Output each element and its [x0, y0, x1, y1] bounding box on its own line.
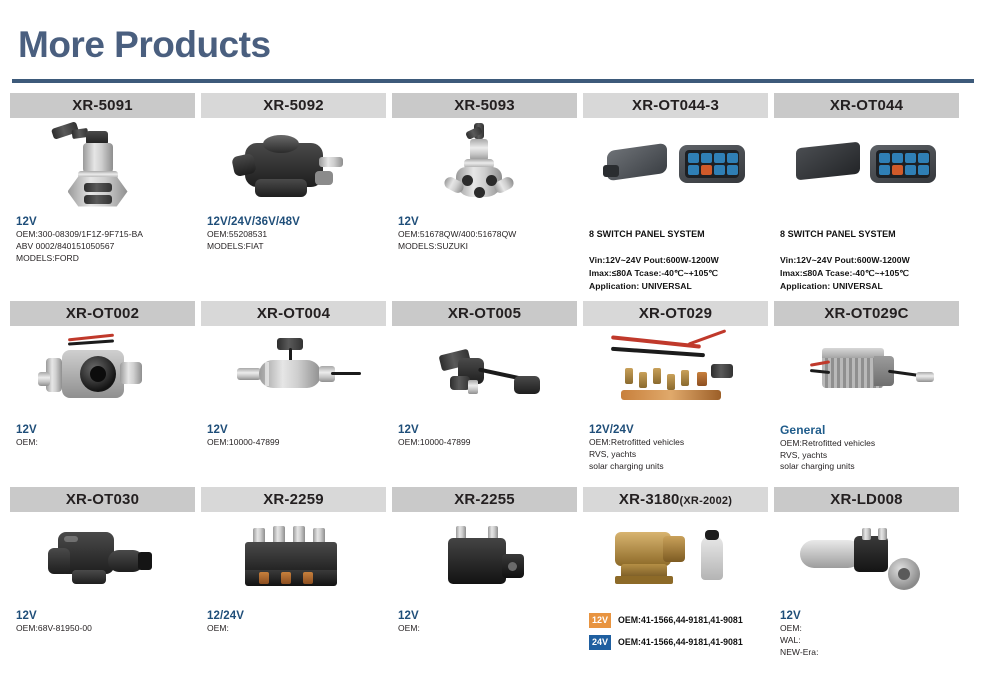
product-code: XR-3180(XR-2002): [583, 487, 768, 512]
voltage-label: 12V: [207, 423, 382, 437]
product-card-xr-ot004[interactable]: XR-OT004 12V OEM:10000-47899: [201, 301, 386, 483]
voltage-label: 12V: [16, 423, 191, 437]
product-image-wiring-kit: [583, 326, 768, 421]
product-info: 12V OEM:10000-47899: [392, 421, 577, 483]
voltage-badge-row: 12V OEM:41-1566,44-9181,41-9081: [589, 613, 764, 628]
oem-text: OEM: WAL: NEW-Era:: [780, 623, 955, 658]
spec-text: Vin:12V~24V Pout:600W-1200W Imax:≤80A Tc…: [589, 255, 719, 291]
product-row: XR-OT030 12V OEM:68V-81950-00: [10, 487, 980, 673]
product-image-valve-metal: [10, 118, 195, 213]
voltage-badge-12v: 12V: [589, 613, 611, 628]
product-info: 8 SWITCH PANEL SYSTEM Vin:12V~24V Pout:6…: [774, 213, 959, 297]
voltage-label: 12V/24V/36V/48V: [207, 215, 382, 229]
oem-text: OEM:10000-47899: [398, 437, 573, 449]
product-card-xr-ot005[interactable]: XR-OT005 12V OEM:10000-47899: [392, 301, 577, 483]
spec-text: Vin:12V~24V Pout:600W-1200W Imax:≤80A Tc…: [780, 255, 910, 291]
voltage-label: 12V: [398, 609, 573, 623]
product-code: XR-OT005: [392, 301, 577, 326]
voltage-label: 12V: [398, 215, 573, 229]
voltage-label: 12V: [16, 609, 191, 623]
product-catalog-page: More Products XR-5091: [0, 0, 990, 694]
product-image-switch-panel: [774, 118, 959, 213]
product-code: XR-OT044: [774, 93, 959, 118]
oem-text: OEM:Retrofitted vehicles RVS, yachts sol…: [589, 437, 764, 472]
voltage-badge-24v: 24V: [589, 635, 611, 650]
oem-text: OEM:41-1566,44-9181,41-9081: [618, 637, 743, 647]
product-card-xr-3180[interactable]: XR-3180(XR-2002) 12V OEM:41-1566,44-91: [583, 487, 768, 673]
product-code-sub: (XR-2002): [680, 495, 733, 507]
oem-text: OEM:: [398, 623, 573, 635]
product-grid: XR-5091 12V OEM:300-08309/1: [0, 93, 990, 673]
oem-text: OEM:51678QW/400:51678QW MODELS:SUZUKI: [398, 229, 573, 252]
page-title: More Products: [18, 26, 990, 63]
product-image-pump-black: [201, 118, 386, 213]
oem-text: OEM:: [16, 437, 191, 449]
product-code: XR-2255: [392, 487, 577, 512]
oem-text: OEM:: [207, 623, 382, 635]
oem-text: OEM:41-1566,44-9181,41-9081: [618, 615, 743, 625]
oem-text: OEM:Retrofitted vehicles RVS, yachts sol…: [780, 438, 955, 473]
oem-text: OEM:10000-47899: [207, 437, 382, 449]
product-image-winch-contactor: [201, 512, 386, 607]
product-image-sensor-cable: [392, 326, 577, 421]
oem-text: OEM:300-08309/1F1Z-9F715-BA ABV 0002/840…: [16, 229, 191, 264]
product-image-solenoid-black: [392, 512, 577, 607]
voltage-label: General: [780, 423, 955, 438]
voltage-badge-row: 24V OEM:41-1566,44-9181,41-9081: [589, 635, 764, 650]
product-image-starter-solenoid: [774, 512, 959, 607]
product-code: XR-2259: [201, 487, 386, 512]
product-code: XR-LD008: [774, 487, 959, 512]
product-code: XR-OT029C: [774, 301, 959, 326]
product-code: XR-OT002: [10, 301, 195, 326]
product-code: XR-5092: [201, 93, 386, 118]
product-card-xr-5092[interactable]: XR-5092 12V/24V/36V/48V OEM:55208531 MOD…: [201, 93, 386, 297]
product-info: 12V OEM:: [10, 421, 195, 483]
spec-title: 8 SWITCH PANEL SYSTEM: [780, 228, 955, 242]
product-card-xr-2255[interactable]: XR-2255 12V OEM:: [392, 487, 577, 673]
voltage-label: 12V: [16, 215, 191, 229]
product-code: XR-OT029: [583, 301, 768, 326]
product-info: 12V OEM:68V-81950-00: [10, 607, 195, 669]
product-code: XR-OT004: [201, 301, 386, 326]
product-info: 12V OEM:10000-47899: [201, 421, 386, 483]
product-card-xr-2259[interactable]: XR-2259 12/24V: [201, 487, 386, 673]
product-image-starter-brass: [583, 512, 768, 607]
product-card-xr-5091[interactable]: XR-5091 12V OEM:300-08309/1: [10, 93, 195, 297]
product-row: XR-5091 12V OEM:300-08309/1: [10, 93, 980, 297]
product-card-xr-ot002[interactable]: XR-OT002 12V OEM:: [10, 301, 195, 483]
product-card-xr-ot029[interactable]: XR-OT029: [583, 301, 768, 483]
spec-title: 8 SWITCH PANEL SYSTEM: [589, 228, 764, 242]
product-info: 12/24V OEM:: [201, 607, 386, 669]
product-info: 12V OEM:300-08309/1F1Z-9F715-BA ABV 0002…: [10, 213, 195, 275]
oem-text: OEM:55208531 MODELS:FIAT: [207, 229, 382, 252]
product-card-xr-ot044-3[interactable]: XR-OT044-3: [583, 93, 768, 297]
product-info: 12V/24V/36V/48V OEM:55208531 MODELS:FIAT: [201, 213, 386, 275]
product-info: 12V OEM:41-1566,44-9181,41-9081 24V OEM:…: [583, 607, 768, 673]
product-card-xr-ot030[interactable]: XR-OT030 12V OEM:68V-81950-00: [10, 487, 195, 673]
page-header: More Products: [0, 0, 990, 63]
voltage-label: 12/24V: [207, 609, 382, 623]
product-image-switch-panel: [583, 118, 768, 213]
product-code-main: XR-3180: [619, 491, 680, 508]
product-code: XR-5093: [392, 93, 577, 118]
voltage-label: 12V/24V: [589, 423, 764, 437]
product-info: 12V OEM: WAL: NEW-Era:: [774, 607, 959, 669]
voltage-label: 12V: [398, 423, 573, 437]
product-image-amp-box: [774, 326, 959, 421]
product-info: 8 SWITCH PANEL SYSTEM Vin:12V~24V Pout:6…: [583, 213, 768, 297]
product-image-valve-spider: [392, 118, 577, 213]
product-info: 12V OEM:51678QW/400:51678QW MODELS:SUZUK…: [392, 213, 577, 275]
product-image-coil-round: [10, 326, 195, 421]
voltage-label: 12V: [780, 609, 955, 623]
title-divider: [12, 79, 974, 83]
product-info: 12V OEM:: [392, 607, 577, 669]
product-card-xr-ot044[interactable]: XR-OT044: [774, 93, 959, 297]
product-image-ignition-coil: [10, 512, 195, 607]
product-code: XR-OT030: [10, 487, 195, 512]
product-info: General OEM:Retrofitted vehicles RVS, ya…: [774, 421, 959, 483]
oem-text: OEM:68V-81950-00: [16, 623, 191, 635]
product-card-xr-5093[interactable]: XR-5093 12V: [392, 93, 577, 297]
product-card-xr-ot029c[interactable]: XR-OT029C General OEM:Retrofitted vehicl: [774, 301, 959, 483]
product-code: XR-5091: [10, 93, 195, 118]
product-card-xr-ld008[interactable]: XR-LD008 12V OEM: WAL: NEW-Era:: [774, 487, 959, 673]
product-image-pump-cyl: [201, 326, 386, 421]
product-code: XR-OT044-3: [583, 93, 768, 118]
product-info: 12V/24V OEM:Retrofitted vehicles RVS, ya…: [583, 421, 768, 483]
product-row: XR-OT002 12V OEM:: [10, 301, 980, 483]
